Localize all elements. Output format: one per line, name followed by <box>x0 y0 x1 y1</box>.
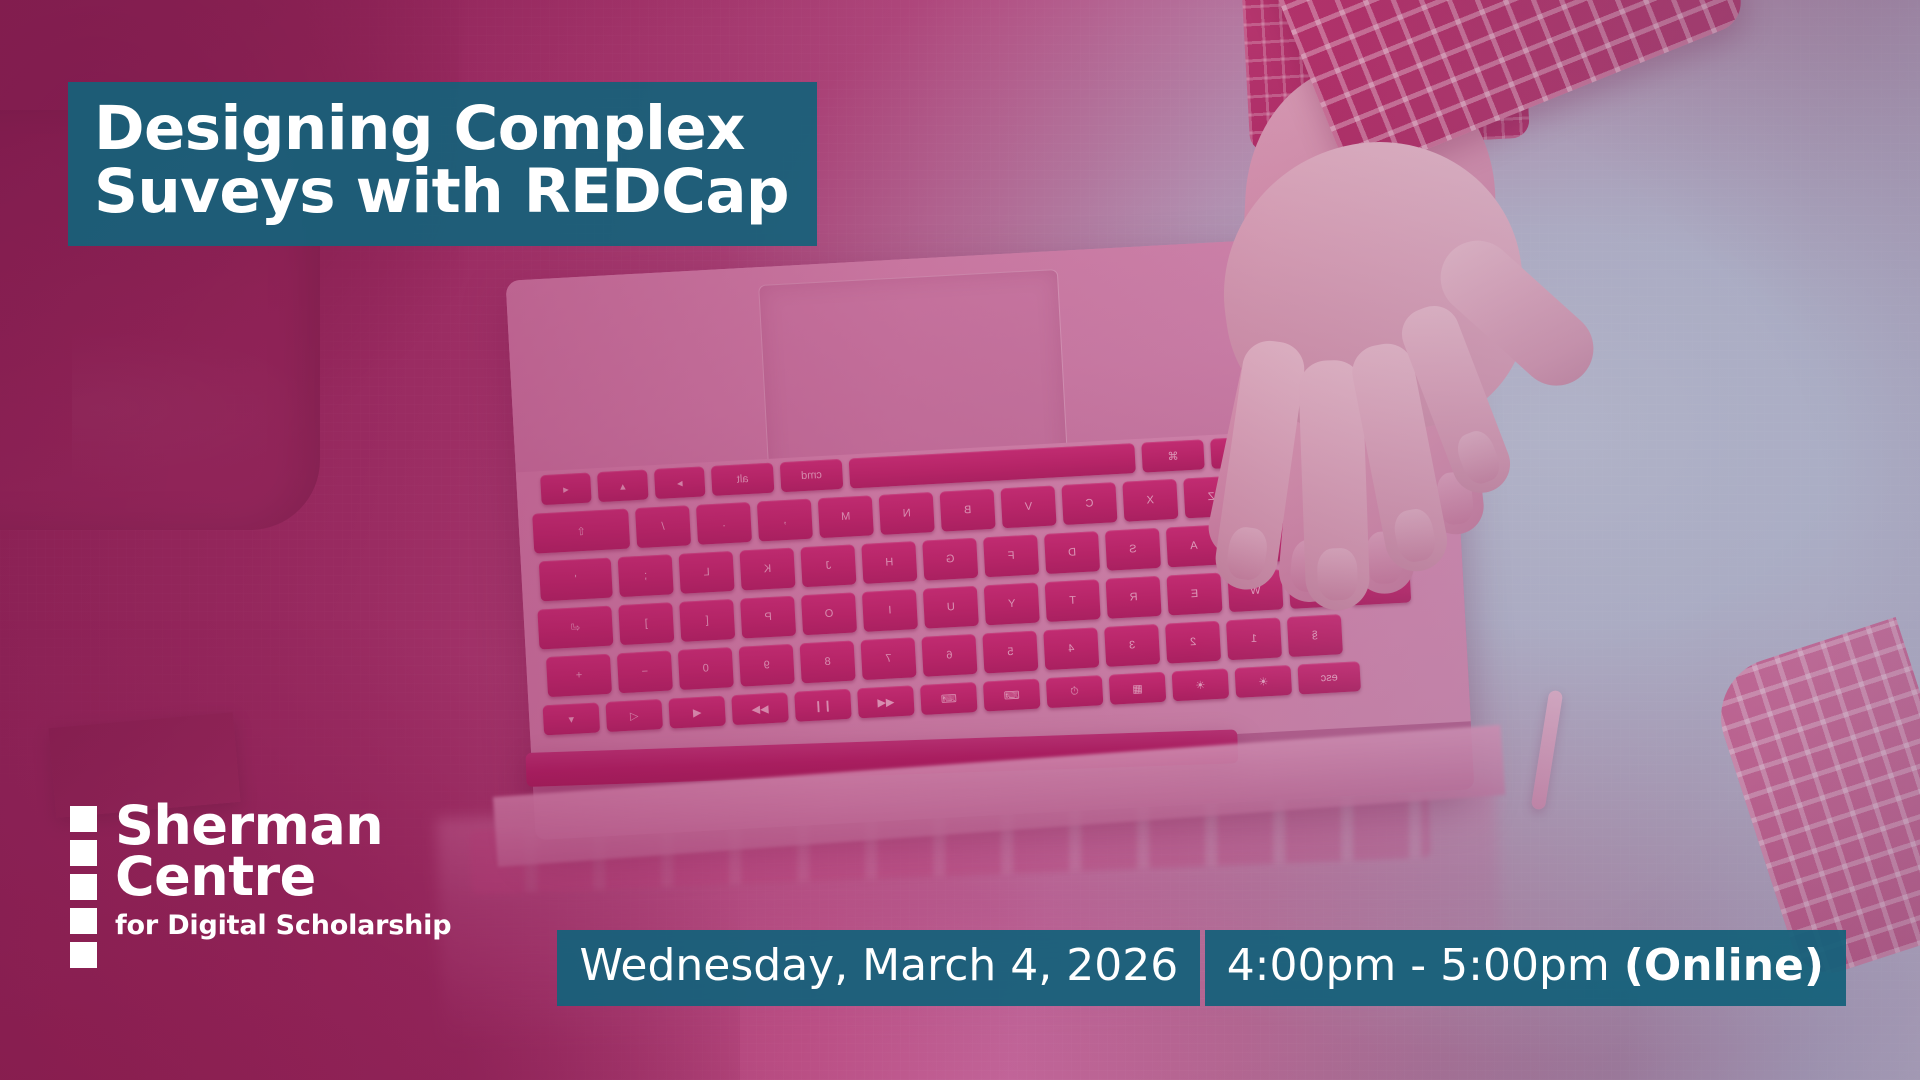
event-date-panel: Wednesday, March 4, 2026 <box>557 930 1200 1006</box>
logo-square-stack <box>70 800 97 968</box>
logo-square-icon <box>70 840 97 866</box>
logo-square-icon <box>70 942 97 968</box>
title-line-2: Suveys with REDCap <box>94 161 789 224</box>
logo-line-sherman: Sherman <box>115 800 451 851</box>
logo-square-icon <box>70 908 97 934</box>
poster-canvas: ◂ ▴ ▸ alt cmd ⌘ alt ⇧ / . , M N B V C X <box>0 0 1920 1080</box>
event-date-text: Wednesday, March 4, 2026 <box>579 940 1178 991</box>
logo-square-icon <box>70 874 97 900</box>
event-time-text: 4:00pm - 5:00pm <box>1227 940 1624 991</box>
event-details: Wednesday, March 4, 2026 4:00pm - 5:00pm… <box>557 912 1846 1006</box>
event-time-panel: 4:00pm - 5:00pm (Online) <box>1205 930 1846 1006</box>
title-panel: Designing Complex Suveys with REDCap <box>68 82 817 246</box>
logo-tagline: for Digital Scholarship <box>115 909 451 943</box>
logo-line-centre: Centre <box>115 851 451 902</box>
sherman-centre-logo: Sherman Centre for Digital Scholarship <box>70 800 500 968</box>
event-format-text: (Online) <box>1624 940 1824 991</box>
title-line-1: Designing Complex <box>94 98 789 161</box>
logo-square-icon <box>70 806 97 832</box>
